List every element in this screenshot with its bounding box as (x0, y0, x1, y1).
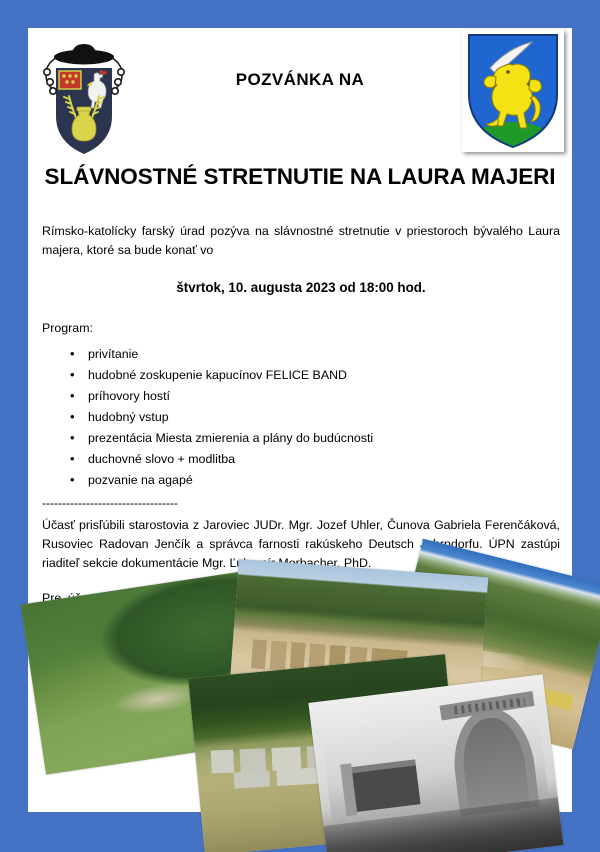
list-item: privítanie (88, 346, 560, 364)
list-item: hudobné zoskupenie kapucínov FELICE BAND (88, 367, 560, 385)
photo-collage (0, 560, 600, 852)
intro-paragraph: Rímsko-katolícky farský úrad pozýva na s… (42, 222, 560, 260)
list-item: hudobný vstup (88, 409, 560, 427)
list-item: pozvanie na agapé (88, 472, 560, 490)
program-label: Program: (42, 319, 560, 338)
municipal-coat-of-arms-icon (462, 30, 564, 152)
parish-coat-of-arms-icon (36, 38, 132, 166)
photo-historic-ruin (308, 674, 563, 852)
dashed-separator: ---------------------------------- (42, 494, 560, 513)
list-item: príhovory hostí (88, 388, 560, 406)
event-datetime: štvrtok, 10. augusta 2023 od 18:00 hod. (42, 278, 560, 299)
poster: POZVÁNKA NA SLÁVNOSTNÉ STRETNUTIE NA LAU… (0, 0, 600, 852)
page-title: SLÁVNOSTNÉ STRETNUTIE NA LAURA MAJERI (28, 164, 572, 190)
program-list: privítanie hudobné zoskupenie kapucínov … (42, 346, 560, 490)
historic-doorway (350, 759, 421, 811)
list-item: duchovné slovo + modlitba (88, 451, 560, 469)
list-item: prezentácia Miesta zmierenia a plány do … (88, 430, 560, 448)
